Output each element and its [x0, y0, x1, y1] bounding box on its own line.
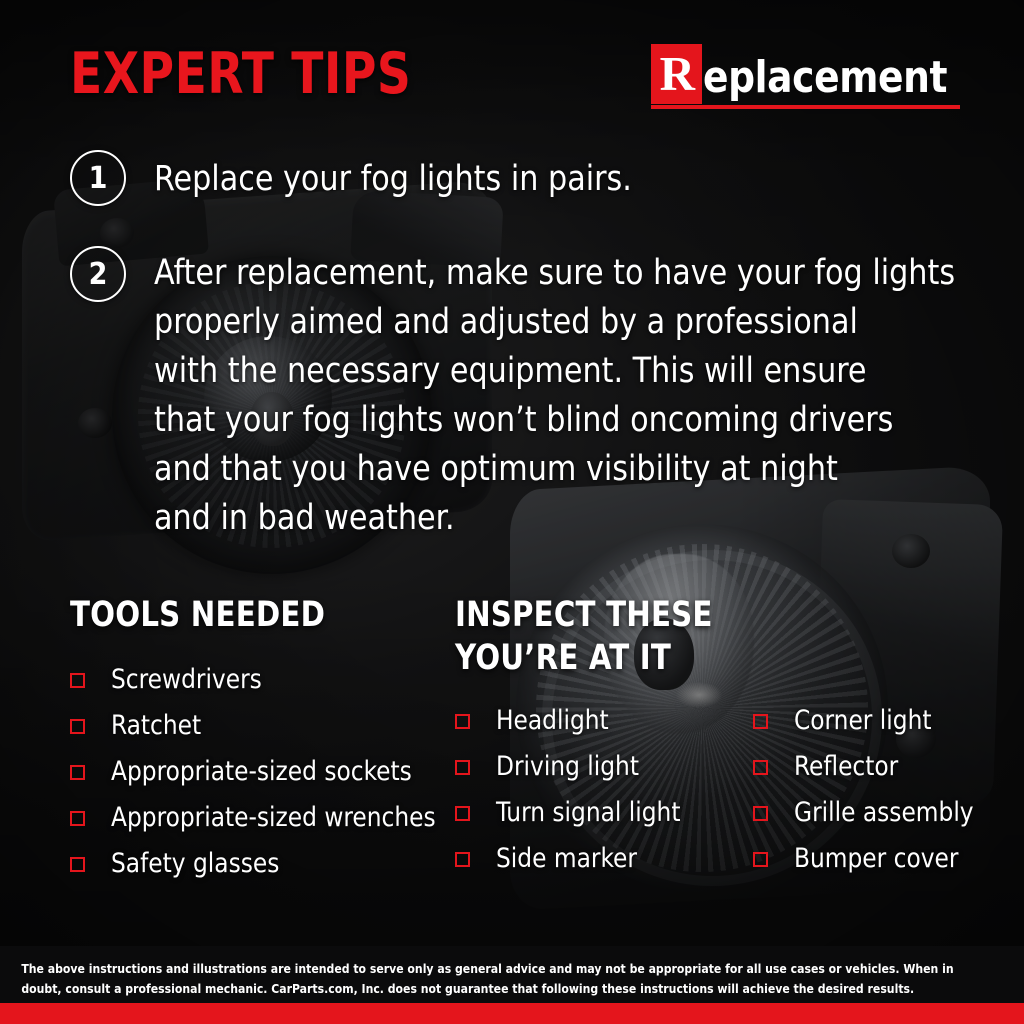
checkbox-icon[interactable]: [753, 714, 768, 729]
list-item[interactable]: Appropriate-sized wrenches: [70, 795, 449, 841]
tip-item-2: 2 After replacement, make sure to have y…: [70, 246, 988, 543]
list-item[interactable]: Driving light: [455, 744, 688, 790]
tool-label: Ratchet: [111, 711, 201, 741]
list-item[interactable]: Bumper cover: [753, 836, 981, 882]
tip-text-1: Replace your fog lights in pairs.: [154, 150, 632, 204]
list-item[interactable]: Ratchet: [70, 703, 449, 749]
expert-tips-infographic: EXPERT TIPS R eplacement 1 Replace your …: [0, 0, 1024, 1024]
list-item[interactable]: Corner light: [753, 698, 981, 744]
brand-logo: R eplacement: [651, 44, 960, 109]
tip-number-badge-2: 2: [70, 246, 126, 302]
inspect-label: Bumper cover: [794, 844, 958, 874]
inspect-label: Reflector: [794, 752, 898, 782]
list-item[interactable]: Turn signal light: [455, 790, 688, 836]
checkbox-icon[interactable]: [70, 673, 85, 688]
checkbox-icon[interactable]: [70, 719, 85, 734]
brand-logo-word: eplacement: [703, 52, 947, 104]
inspect-column-left: Headlight Driving light Turn signal ligh…: [455, 698, 688, 882]
inspect-label: Corner light: [794, 706, 931, 736]
inspect-these-section: INSPECT THESE YOU’RE AT IT Headlight Dri…: [455, 594, 981, 882]
inspect-label: Grille assembly: [794, 798, 974, 828]
tools-needed-list: Screwdrivers Ratchet Appropriate-sized s…: [70, 657, 449, 887]
tool-label: Safety glasses: [111, 849, 279, 879]
page-title: EXPERT TIPS: [70, 46, 411, 103]
inspect-these-heading: INSPECT THESE YOU’RE AT IT: [455, 594, 944, 680]
checkbox-icon[interactable]: [70, 765, 85, 780]
tip-text-2: After replacement, make sure to have you…: [154, 246, 955, 543]
checkbox-icon[interactable]: [455, 806, 470, 821]
list-item[interactable]: Grille assembly: [753, 790, 981, 836]
tools-needed-heading: TOOLS NEEDED: [70, 594, 423, 637]
inspect-label: Side marker: [496, 844, 637, 874]
inspect-column-right: Corner light Reflector Grille assembly B…: [753, 698, 981, 882]
list-item[interactable]: Reflector: [753, 744, 981, 790]
inspect-label: Turn signal light: [496, 798, 680, 828]
list-item[interactable]: Headlight: [455, 698, 688, 744]
footer-disclaimer-text: The above instructions and illustrations…: [0, 946, 993, 999]
checkbox-icon[interactable]: [70, 811, 85, 826]
list-item[interactable]: Screwdrivers: [70, 657, 449, 703]
inspect-label: Headlight: [496, 706, 609, 736]
checkbox-icon[interactable]: [455, 852, 470, 867]
tip-number-badge-1: 1: [70, 150, 126, 206]
footer-disclaimer-band: The above instructions and illustrations…: [0, 946, 1024, 1003]
list-item[interactable]: Safety glasses: [70, 841, 449, 887]
checkbox-icon[interactable]: [753, 760, 768, 775]
checkbox-icon[interactable]: [455, 760, 470, 775]
tools-needed-section: TOOLS NEEDED Screwdrivers Ratchet Approp…: [70, 594, 449, 887]
content-layer: EXPERT TIPS R eplacement 1 Replace your …: [0, 0, 1024, 1024]
inspect-these-columns: Headlight Driving light Turn signal ligh…: [455, 698, 981, 882]
brand-logo-badge: R: [651, 44, 702, 104]
tip-item-1: 1 Replace your fog lights in pairs.: [70, 150, 652, 206]
inspect-label: Driving light: [496, 752, 639, 782]
list-item[interactable]: Appropriate-sized sockets: [70, 749, 449, 795]
list-item[interactable]: Side marker: [455, 836, 688, 882]
tool-label: Screwdrivers: [111, 665, 262, 695]
checkbox-icon[interactable]: [70, 857, 85, 872]
brand-logo-row: R eplacement: [651, 44, 960, 104]
checkbox-icon[interactable]: [753, 852, 768, 867]
tool-label: Appropriate-sized sockets: [111, 757, 412, 787]
tool-label: Appropriate-sized wrenches: [111, 803, 436, 833]
footer-accent-bar: [0, 1003, 1024, 1024]
checkbox-icon[interactable]: [455, 714, 470, 729]
checkbox-icon[interactable]: [753, 806, 768, 821]
brand-logo-underline: [651, 105, 960, 109]
